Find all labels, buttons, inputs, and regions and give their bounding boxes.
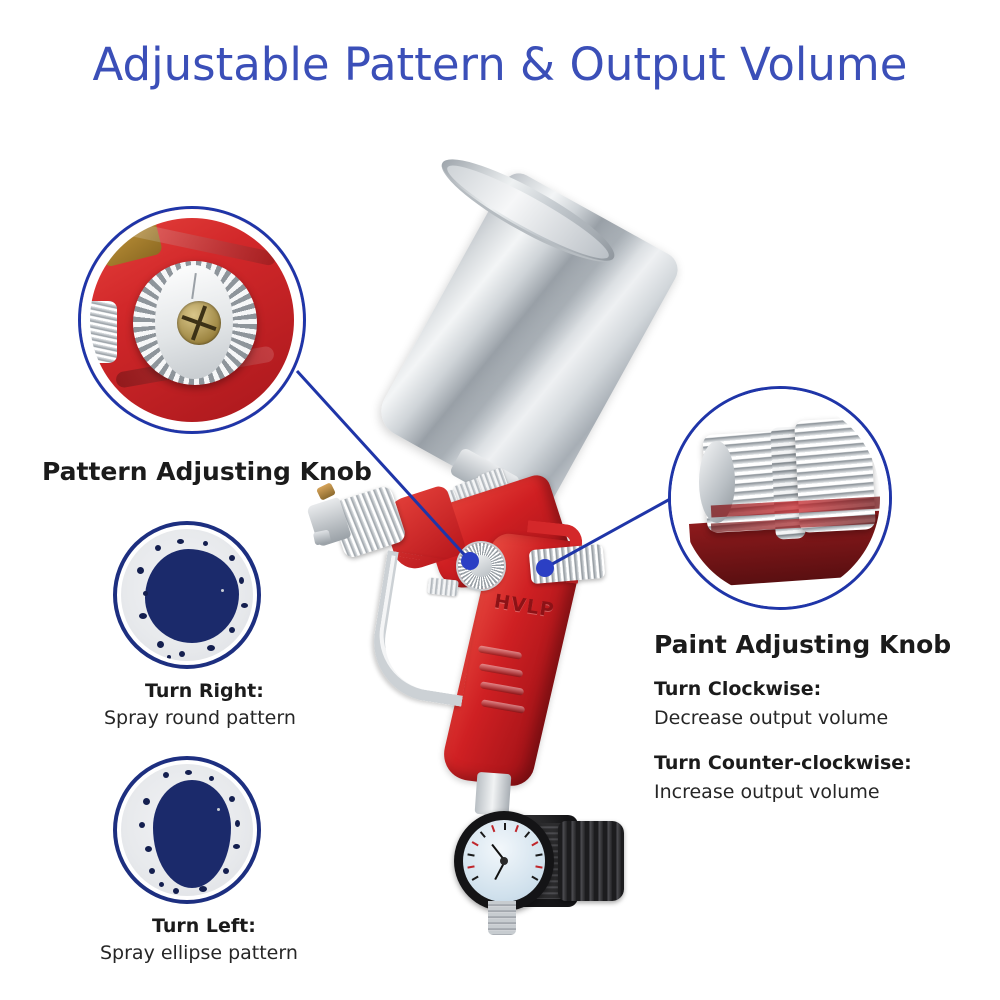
spray-pattern-round-face <box>121 529 253 661</box>
ellipse-pattern-description: Spray ellipse pattern <box>100 942 298 964</box>
air-inlet-fitting <box>475 772 512 816</box>
pattern-knob-magnifier <box>78 206 306 434</box>
round-pattern-description: Spray round pattern <box>104 707 296 729</box>
gauge-face <box>463 820 545 902</box>
paint-knob-heading: Paint Adjusting Knob <box>654 630 951 659</box>
product-image: HVLP <box>280 175 740 955</box>
gauge-center-pin <box>500 857 508 865</box>
regulator-outlet <box>488 901 516 935</box>
fluid-needle-screw <box>427 577 459 596</box>
round-pattern-title: Turn Right: <box>145 680 264 702</box>
pattern-adjusting-knob[interactable] <box>458 543 504 589</box>
paint-adjusting-knob[interactable] <box>529 544 606 584</box>
infographic-canvas: Adjustable Pattern & Output Volume HV <box>0 0 1000 1000</box>
chrome-edge <box>81 301 117 363</box>
page-title: Adjustable Pattern & Output Volume <box>0 38 1000 91</box>
clockwise-title: Turn Clockwise: <box>654 678 821 700</box>
pattern-knob-heading: Pattern Adjusting Knob <box>42 457 372 486</box>
paint-knob-magnifier <box>668 386 892 610</box>
spray-pattern-ellipse <box>113 756 261 904</box>
counter-clockwise-title: Turn Counter-clockwise: <box>654 752 912 774</box>
spray-pattern-round <box>113 521 261 669</box>
pressure-gauge <box>454 811 554 911</box>
counter-clockwise-description: Increase output volume <box>654 781 880 803</box>
ellipse-spray-blob <box>153 780 231 888</box>
air-regulator-knob[interactable] <box>558 821 624 901</box>
paint-knob-closeup-photo <box>671 389 889 607</box>
spray-pattern-ellipse-face <box>121 764 253 896</box>
ellipse-pattern-title: Turn Left: <box>152 915 256 937</box>
round-spray-blob <box>145 549 239 643</box>
pattern-knob-closeup-photo <box>81 209 303 431</box>
clockwise-description: Decrease output volume <box>654 707 888 729</box>
